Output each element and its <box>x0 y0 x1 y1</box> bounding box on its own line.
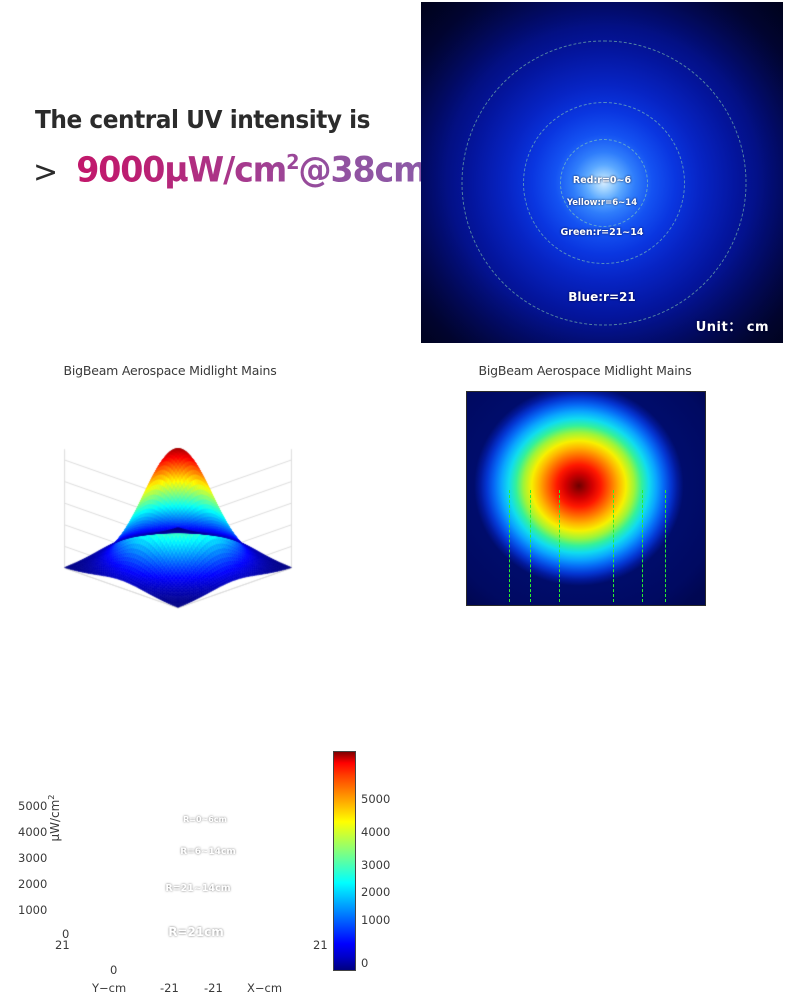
uv-label-red: Red:r=0~6 <box>573 175 631 186</box>
surface-ztick-4: 4000 <box>18 825 47 839</box>
intensity-distance: @38cm <box>299 151 427 191</box>
surface-colorbar <box>333 751 356 971</box>
surface-annotation-outer: R=21~14cm <box>165 883 230 894</box>
uv-beam-photo: Red:r=0~6 Yellow:r=6~14 Green:r=21~14 Bl… <box>421 2 783 343</box>
surface-yaxis-label: Y−cm <box>92 981 126 995</box>
heatmap-guide-p10 <box>642 490 643 602</box>
intensity-exponent: 2 <box>286 150 298 174</box>
surface-xtick-m21: -21 <box>204 981 223 995</box>
surface-annotation-mid: R=6~14cm <box>180 847 236 857</box>
heatmap-guide-m10 <box>530 490 531 602</box>
surface-cbtick-1: 1000 <box>361 913 390 927</box>
surface-annotation-peak: R=0~6cm <box>183 815 227 824</box>
greater-than-symbol: > <box>33 158 58 188</box>
surface-cbtick-2: 2000 <box>361 885 390 899</box>
surface-ztick-5: 5000 <box>18 799 47 813</box>
uv-label-green: Green:r=21~14 <box>561 227 644 238</box>
heatmap-guide-m6 <box>559 490 560 602</box>
headline-intensity-value: 9000µW/cm2@38cm <box>76 152 426 189</box>
intensity-number: 9000µW/cm <box>76 151 286 191</box>
surface-ztick-1: 1000 <box>18 903 47 917</box>
surface-cbtick-0: 0 <box>361 956 368 970</box>
headline-line-2: > 9000µW/cm2@38cm <box>33 152 436 189</box>
surface-ytick-0: 0 <box>110 963 117 977</box>
uv-label-unit: Unit： cm <box>696 316 769 335</box>
heatmap-field <box>466 391 706 606</box>
surface-ztick-3: 3000 <box>18 851 47 865</box>
surface-ztick-2: 2000 <box>18 877 47 891</box>
heatmap-guide-p14 <box>665 490 666 602</box>
heatmap-plot-2d: BigBeam Aerospace Midlight Mains 21 14 1… <box>400 355 799 642</box>
heatmap-title: BigBeam Aerospace Midlight Mains <box>435 363 735 378</box>
surface-ytick-m21: -21 <box>160 981 179 995</box>
uv-label-blue: Blue:r=21 <box>568 290 635 304</box>
surface-annotation-base: R=21cm <box>168 925 224 939</box>
heatmap-falloff <box>467 392 705 605</box>
headline-block: The central UV intensity is > 9000µW/cm2… <box>0 0 421 345</box>
surface-xtick-21: 21 <box>313 938 328 952</box>
heatmap-guide-p6 <box>613 490 614 602</box>
surface-plot-3d: BigBeam Aerospace Midlight Mains 5000 40… <box>0 355 400 642</box>
surface-cbtick-4: 4000 <box>361 825 390 839</box>
headline-line-1: The central UV intensity is <box>35 105 370 134</box>
surface-xaxis-label: X−cm <box>247 981 282 995</box>
surface-plot-canvas <box>0 355 400 642</box>
surface-zaxis-label: µW/cm2 <box>46 758 62 878</box>
surface-cbtick-5: 5000 <box>361 792 390 806</box>
surface-cbtick-3: 3000 <box>361 858 390 872</box>
uv-label-yellow: Yellow:r=6~14 <box>567 198 637 208</box>
surface-ytick-21: 21 <box>55 938 70 952</box>
heatmap-guide-m14 <box>509 490 510 602</box>
